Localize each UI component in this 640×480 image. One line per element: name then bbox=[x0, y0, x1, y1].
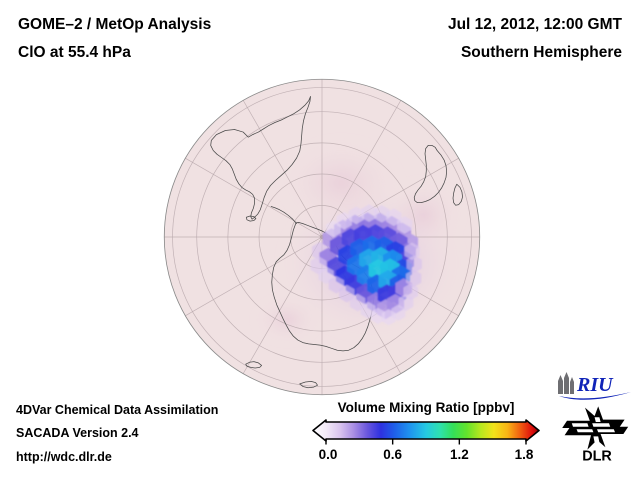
page-title-species: ClO at 55.4 hPa bbox=[18, 44, 131, 62]
colorbar-tick-0: 0.0 bbox=[319, 447, 338, 462]
footer-method: 4DVar Chemical Data Assimilation bbox=[16, 403, 218, 417]
colorbar-tick-3: 1.8 bbox=[515, 447, 534, 462]
globe-map bbox=[163, 78, 481, 396]
colorbar: Volume Mixing Ratio [ppbv] 0.00.61.21.8 bbox=[312, 400, 540, 465]
colorbar-tick-2: 1.2 bbox=[450, 447, 469, 462]
header-region: Southern Hemisphere bbox=[461, 44, 622, 62]
footer-url: http://wdc.dlr.de bbox=[16, 450, 112, 464]
page-title-instrument: GOME–2 / MetOp Analysis bbox=[18, 16, 211, 34]
footer-version: SACADA Version 2.4 bbox=[16, 426, 139, 440]
dlr-logo: DLR bbox=[561, 405, 633, 463]
visualization-page: GOME–2 / MetOp Analysis ClO at 55.4 hPa … bbox=[0, 0, 640, 480]
colorbar-tick-labels: 0.00.61.21.8 bbox=[312, 447, 540, 465]
dlr-wordmark: DLR bbox=[582, 448, 612, 463]
riu-wordmark: RIU bbox=[576, 374, 614, 396]
riu-towers-icon bbox=[558, 372, 574, 394]
colorbar-tick-1: 0.6 bbox=[383, 447, 402, 462]
riu-logo: RIU bbox=[556, 371, 634, 401]
header-datetime: Jul 12, 2012, 12:00 GMT bbox=[448, 16, 622, 34]
dlr-eagle-icon bbox=[562, 406, 628, 449]
colorbar-gradient bbox=[312, 419, 540, 445]
colorbar-title: Volume Mixing Ratio [ppbv] bbox=[312, 400, 540, 415]
